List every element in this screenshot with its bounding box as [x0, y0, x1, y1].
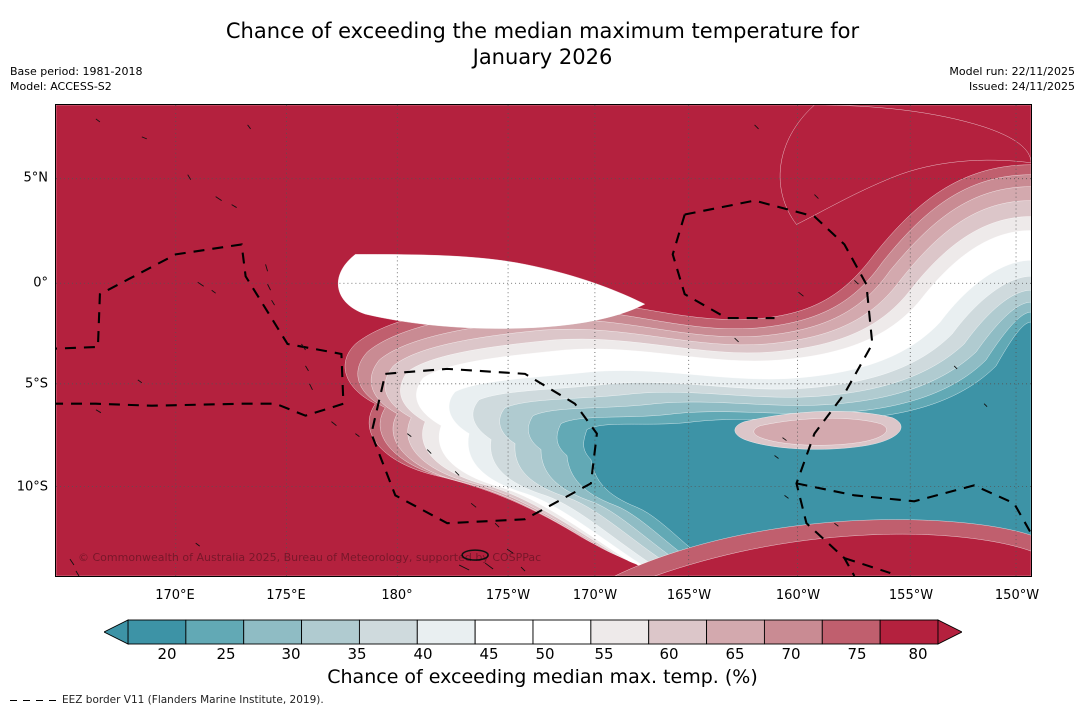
- dashed-line-key-icon: [10, 700, 56, 701]
- lon-tick-1: 175°E: [266, 588, 306, 603]
- colorbar-tick-30: 30: [281, 645, 300, 663]
- lon-tick-8: 150°W: [995, 588, 1039, 603]
- page-title: Chance of exceeding the median maximum t…: [0, 18, 1085, 70]
- lat-tick-text-3: 10°S: [17, 480, 48, 495]
- lat-tick-1: 0°: [48, 276, 63, 291]
- lat-tick-text-2: 5°S: [25, 377, 48, 392]
- colorbar-segment-3[interactable]: [302, 620, 360, 644]
- colorbar-segment-13[interactable]: [880, 620, 938, 644]
- colorbar-tick-60: 60: [659, 645, 678, 663]
- colorbar-extend-high: [938, 620, 962, 644]
- colorbar-tick-25: 25: [216, 645, 235, 663]
- colorbar-segment-11[interactable]: [764, 620, 822, 644]
- colorbar-segment-1[interactable]: [186, 620, 244, 644]
- metadata-right: Model run: 22/11/2025 Issued: 24/11/2025: [949, 64, 1075, 94]
- colorbar-tick-70: 70: [781, 645, 800, 663]
- colorbar-segment-2[interactable]: [244, 620, 302, 644]
- footer-legend: EEZ border V11 (Flanders Marine Institut…: [10, 694, 324, 706]
- colorbar-tick-20: 20: [157, 645, 176, 663]
- lat-tick-text-1: 0°: [33, 276, 48, 291]
- metadata-left: Base period: 1981-2018 Model: ACCESS-S2: [10, 64, 142, 94]
- model-text: Model: ACCESS-S2: [10, 79, 142, 94]
- colorbar-segment-9[interactable]: [649, 620, 707, 644]
- lon-tick-0: 170°E: [155, 588, 195, 603]
- colorbar-extend-low: [104, 620, 128, 644]
- colorbar-tick-40: 40: [413, 645, 432, 663]
- title-line-1: Chance of exceeding the median maximum t…: [0, 18, 1085, 44]
- colorbar-segment-12[interactable]: [822, 620, 880, 644]
- model-run-text: Model run: 22/11/2025: [949, 64, 1075, 79]
- lon-tick-3: 175°W: [486, 588, 530, 603]
- colorbar-tick-80: 80: [908, 645, 927, 663]
- colorbar-segment-8[interactable]: [591, 620, 649, 644]
- colorbar-tick-55: 55: [594, 645, 613, 663]
- lat-tick-0: 5°N: [48, 171, 73, 186]
- copyright-notice: © Commonwealth of Australia 2025, Bureau…: [78, 551, 541, 564]
- colorbar[interactable]: [104, 619, 962, 645]
- colorbar-tick-45: 45: [479, 645, 498, 663]
- lon-tick-6: 160°W: [776, 588, 820, 603]
- colorbar-axis-label: Chance of exceeding median max. temp. (%…: [0, 666, 1085, 688]
- issued-text: Issued: 24/11/2025: [949, 79, 1075, 94]
- colorbar-segment-0[interactable]: [128, 620, 186, 644]
- map-plot-area[interactable]: © Commonwealth of Australia 2025, Bureau…: [55, 104, 1032, 577]
- base-period-text: Base period: 1981-2018: [10, 64, 142, 79]
- colorbar-segment-4[interactable]: [359, 620, 417, 644]
- colorbar-tick-65: 65: [725, 645, 744, 663]
- lon-tick-5: 165°W: [667, 588, 711, 603]
- eez-note-text: EEZ border V11 (Flanders Marine Institut…: [62, 694, 324, 706]
- colorbar-segment-10[interactable]: [707, 620, 765, 644]
- lat-tick-text-0: 5°N: [24, 171, 49, 186]
- lat-tick-2: 5°S: [48, 377, 71, 392]
- lon-tick-2: 180°: [381, 588, 412, 603]
- colorbar-segment-6[interactable]: [475, 620, 533, 644]
- colorbar-tick-50: 50: [535, 645, 554, 663]
- colorbar-segment-7[interactable]: [533, 620, 591, 644]
- colorbar-tick-75: 75: [847, 645, 866, 663]
- title-line-2: January 2026: [0, 44, 1085, 70]
- colorbar-tick-35: 35: [347, 645, 366, 663]
- lon-tick-7: 155°W: [889, 588, 933, 603]
- probability-contour-field: [56, 105, 1031, 576]
- lon-tick-4: 170°W: [573, 588, 617, 603]
- colorbar-swatches[interactable]: [104, 619, 962, 645]
- colorbar-segment-5[interactable]: [417, 620, 475, 644]
- lat-tick-3: 10°S: [48, 480, 79, 495]
